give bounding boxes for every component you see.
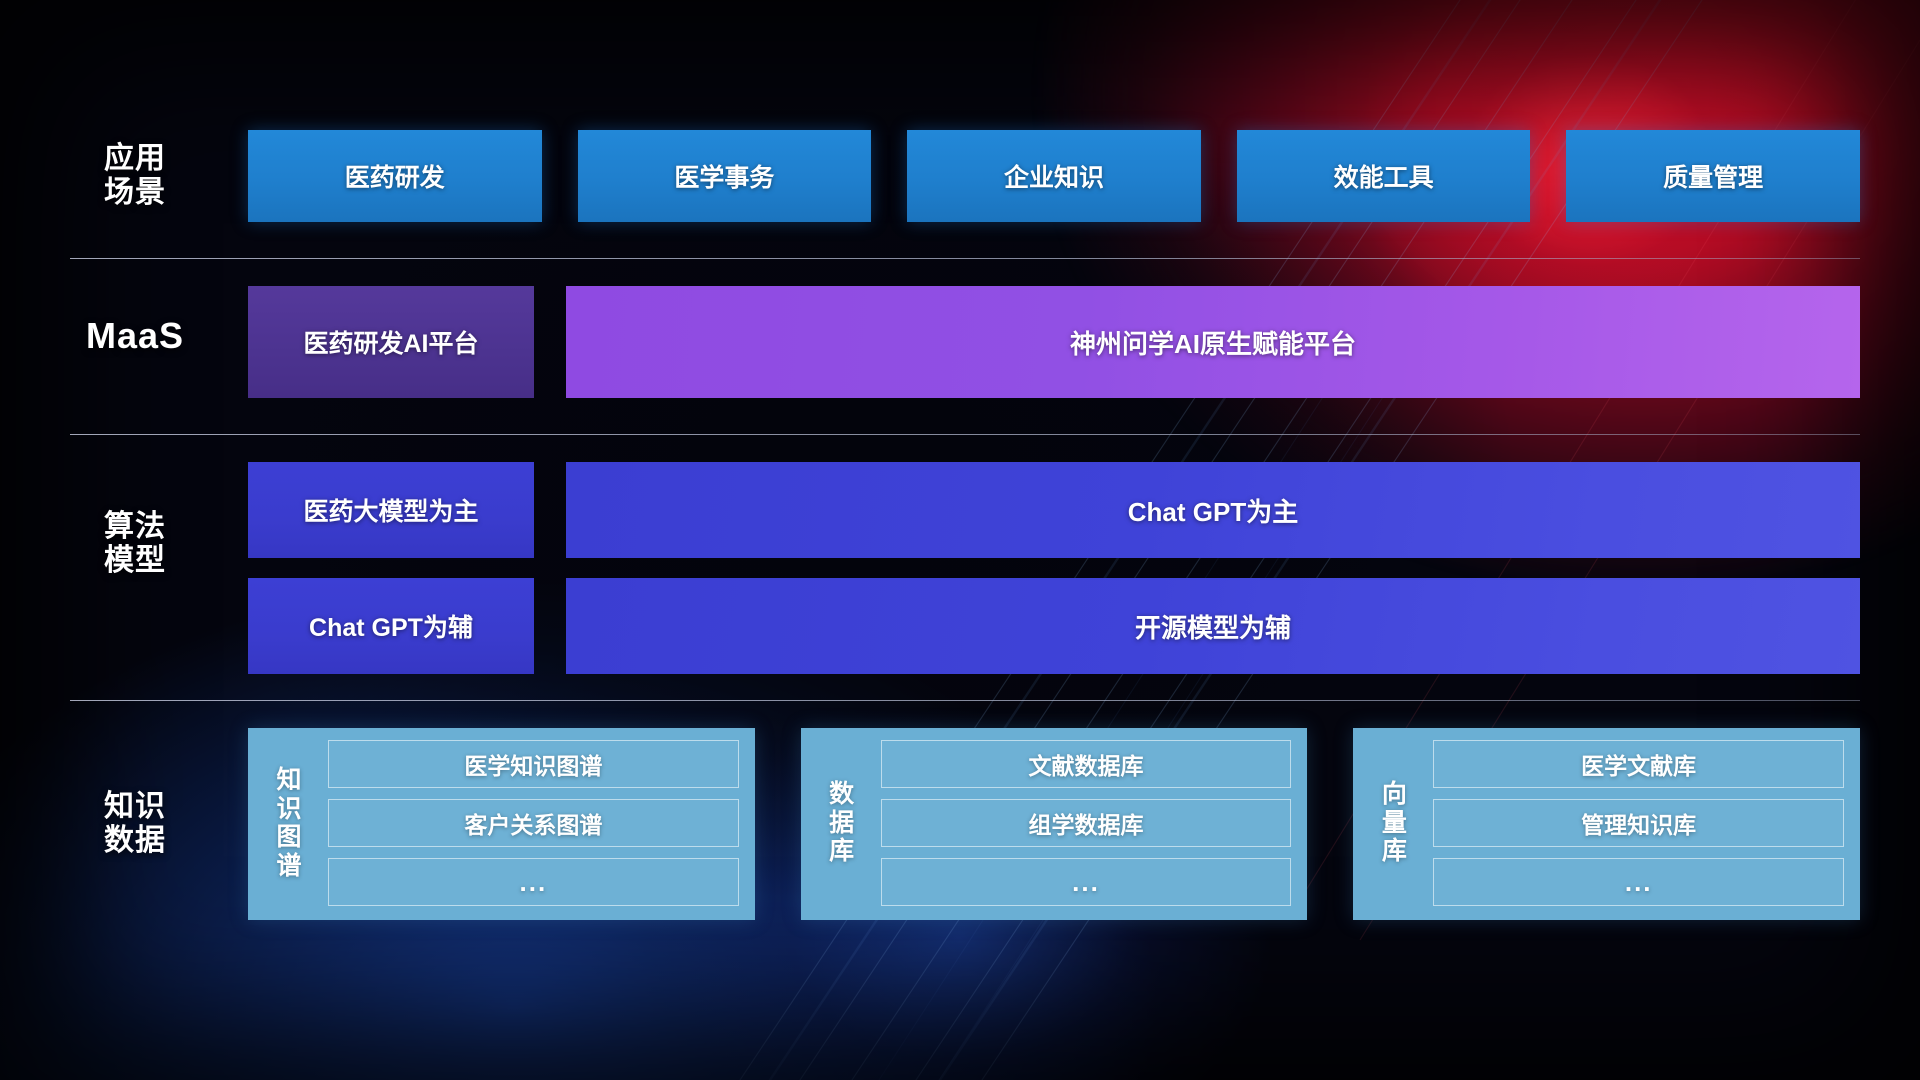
row-label-line: 知识	[70, 790, 200, 824]
knowledge-item-more-knowledge-graph[interactable]: ...	[328, 858, 739, 906]
knowledge-group-title-knowledge-graph: 知 识 图 谱	[264, 740, 314, 906]
knowledge-item-customer-relation-graph[interactable]: 客户关系图谱	[328, 799, 739, 847]
divider-after-algorithm	[70, 700, 1860, 701]
application-scenario-cards: 医药研发 医学事务 企业知识 效能工具 质量管理	[248, 130, 1860, 222]
row-label-application-scenarios: 应用 场景	[70, 142, 200, 209]
algo-card-chatgpt-primary[interactable]: Chat GPT为主	[566, 462, 1860, 558]
knowledge-item-management-knowledge-store[interactable]: 管理知识库	[1433, 799, 1844, 847]
knowledge-group-vector-store[interactable]: 向 量 库 医学文献库 管理知识库 ...	[1353, 728, 1860, 920]
title-char: 库	[829, 837, 854, 866]
maas-card-drug-rd-ai-platform[interactable]: 医药研发AI平台	[248, 286, 534, 398]
app-card-enterprise-knowledge[interactable]: 企业知识	[907, 130, 1201, 222]
knowledge-item-more-vector-store[interactable]: ...	[1433, 858, 1844, 906]
algorithm-bar-secondary: Chat GPT为辅 开源模型为辅	[248, 578, 1860, 674]
algo-card-pharma-llm-primary[interactable]: 医药大模型为主	[248, 462, 534, 558]
knowledge-item-literature-database[interactable]: 文献数据库	[881, 740, 1292, 788]
title-char: 量	[1382, 809, 1407, 838]
knowledge-items-vector-store: 医学文献库 管理知识库 ...	[1433, 740, 1844, 906]
title-char: 谱	[276, 852, 301, 881]
app-card-efficiency-tools[interactable]: 效能工具	[1237, 130, 1531, 222]
divider-after-maas	[70, 434, 1860, 435]
knowledge-items-database: 文献数据库 组学数据库 ...	[881, 740, 1292, 906]
row-label-algorithm-model: 算法 模型	[70, 510, 200, 577]
maas-cards: 医药研发AI平台 神州问学AI原生赋能平台	[248, 286, 1860, 398]
algorithm-bar-primary: 医药大模型为主 Chat GPT为主	[248, 462, 1860, 558]
knowledge-item-omics-database[interactable]: 组学数据库	[881, 799, 1292, 847]
knowledge-group-database[interactable]: 数 据 库 文献数据库 组学数据库 ...	[801, 728, 1308, 920]
app-card-drug-rd[interactable]: 医药研发	[248, 130, 542, 222]
knowledge-group-title-vector-store: 向 量 库	[1369, 740, 1419, 906]
app-card-quality-management[interactable]: 质量管理	[1566, 130, 1860, 222]
knowledge-group-title-database: 数 据 库	[817, 740, 867, 906]
title-char: 数	[829, 780, 854, 809]
row-label-line: 应用	[70, 142, 200, 176]
title-char: 识	[276, 795, 301, 824]
maas-card-shenzhou-wenxue-platform[interactable]: 神州问学AI原生赋能平台	[566, 286, 1860, 398]
divider-after-application	[70, 258, 1860, 259]
row-label-maas: MaaS	[70, 316, 200, 356]
title-char: 库	[1382, 837, 1407, 866]
knowledge-items-knowledge-graph: 医学知识图谱 客户关系图谱 ...	[328, 740, 739, 906]
knowledge-item-more-database[interactable]: ...	[881, 858, 1292, 906]
knowledge-groups: 知 识 图 谱 医学知识图谱 客户关系图谱 ... 数 据	[248, 728, 1860, 920]
title-char: 图	[276, 823, 301, 852]
row-label-knowledge-data: 知识 数据	[70, 790, 200, 857]
title-char: 向	[1382, 780, 1407, 809]
algo-card-opensource-secondary[interactable]: 开源模型为辅	[566, 578, 1860, 674]
title-char: 据	[829, 809, 854, 838]
title-char: 知	[276, 766, 301, 795]
row-label-line: 数据	[70, 824, 200, 858]
algo-card-chatgpt-secondary[interactable]: Chat GPT为辅	[248, 578, 534, 674]
app-card-medical-affairs[interactable]: 医学事务	[578, 130, 872, 222]
knowledge-item-medical-knowledge-graph[interactable]: 医学知识图谱	[328, 740, 739, 788]
row-label-line: MaaS	[70, 316, 200, 356]
row-label-line: 模型	[70, 544, 200, 578]
row-label-line: 场景	[70, 176, 200, 210]
knowledge-group-knowledge-graph[interactable]: 知 识 图 谱 医学知识图谱 客户关系图谱 ...	[248, 728, 755, 920]
row-label-line: 算法	[70, 510, 200, 544]
knowledge-item-medical-literature-store[interactable]: 医学文献库	[1433, 740, 1844, 788]
